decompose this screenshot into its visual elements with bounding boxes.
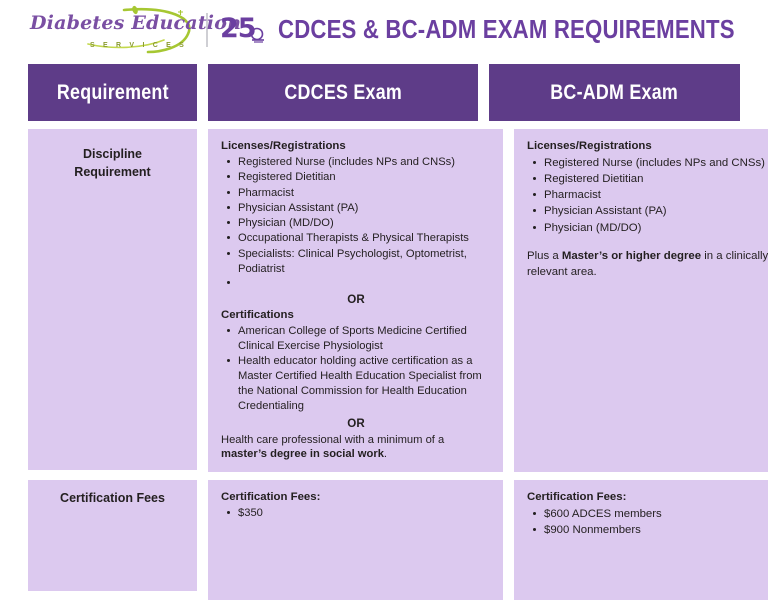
diabetes-education-services-logo: Diabetes Education S E R V I C E S [28, 4, 200, 56]
cdces-closing-prefix: Health care professional with a minimum … [221, 434, 444, 446]
list-item: Physician (MD/DO) [544, 221, 768, 237]
cdces-or-2: OR [221, 416, 491, 431]
logo-script-text: Diabetes Education [30, 12, 241, 34]
cell-cdces-fees: Certification Fees: $350 [208, 480, 503, 600]
column-header-cdces-exam-label: CDCES Exam [284, 81, 402, 105]
page-title: CDCES & BC-ADM EXAM REQUIREMENTS [278, 16, 735, 45]
cdces-or-1: OR [221, 292, 491, 307]
cell-cdces-discipline: Licenses/Registrations Registered Nurse … [208, 129, 503, 472]
cdces-closing-bold: master’s degree in social work [221, 448, 384, 460]
bcadm-closing-prefix: Plus a [527, 250, 562, 262]
row-label-line-1: Discipline [74, 145, 150, 163]
bcadm-closing-statement: Plus a Master’s or higher degree in a cl… [527, 249, 768, 280]
list-item: Pharmacist [544, 188, 768, 204]
bcadm-closing-bold: Master’s or higher degree [562, 250, 701, 262]
cdces-closing-statement: Health care professional with a minimum … [221, 433, 491, 463]
list-item: Occupational Therapists & Physical Thera… [238, 231, 491, 246]
cell-bcadm-discipline: Licenses/Registrations Registered Nurse … [514, 129, 768, 472]
list-item-empty [238, 277, 491, 289]
cdces-licenses-heading: Licenses/Registrations [221, 139, 491, 154]
bcadm-fees-list: $600 ADCES members $900 Nonmembers [527, 507, 768, 539]
list-item: American College of Sports Medicine Cert… [238, 324, 491, 354]
cdces-licenses-list: Registered Nurse (includes NPs and CNSs)… [221, 155, 491, 289]
cdces-certifications-heading: Certifications [221, 308, 491, 323]
list-item: Physician Assistant (PA) [544, 204, 768, 220]
column-header-cdces-exam: CDCES Exam [208, 64, 478, 121]
banner: Diabetes Education S E R V I C E S 25 CD… [0, 0, 768, 60]
infographic-page: Diabetes Education S E R V I C E S 25 CD… [0, 0, 768, 576]
list-item: $600 ADCES members [544, 507, 768, 523]
column-header-requirement-label: Requirement [57, 81, 169, 105]
row-gap [28, 121, 740, 129]
anniversary-loop-icon [250, 25, 266, 43]
cdces-fees-list: $350 [221, 506, 491, 521]
list-item: Health educator holding active certifica… [238, 354, 491, 413]
list-item: Registered Dietitian [238, 170, 491, 185]
list-item: Physician Assistant (PA) [238, 201, 491, 216]
column-header-bcadm-exam-label: BC-ADM Exam [551, 81, 679, 105]
cell-bcadm-fees: Certification Fees: $600 ADCES members $… [514, 480, 768, 600]
bcadm-licenses-heading: Licenses/Registrations [527, 139, 768, 155]
row-label-discipline-requirement: Discipline Requirement [28, 129, 197, 470]
column-header-requirement: Requirement [28, 64, 197, 121]
list-item: Registered Nurse (includes NPs and CNSs) [544, 156, 768, 172]
table-row: Certification Fees Certification Fees: $… [28, 480, 740, 600]
requirements-table: Requirement CDCES Exam BC-ADM Exam Disci… [28, 64, 740, 600]
cdces-closing-suffix: . [384, 448, 387, 460]
list-item: $350 [238, 506, 491, 521]
anniversary-badge: 25 [220, 11, 266, 49]
column-header-bcadm-exam: BC-ADM Exam [489, 64, 740, 121]
list-item: Pharmacist [238, 186, 491, 201]
list-item: $900 Nonmembers [544, 523, 768, 539]
cdces-certifications-list: American College of Sports Medicine Cert… [221, 324, 491, 413]
cdces-fees-heading: Certification Fees: [221, 490, 491, 505]
bcadm-fees-heading: Certification Fees: [527, 490, 768, 506]
bcadm-licenses-list: Registered Nurse (includes NPs and CNSs)… [527, 156, 768, 237]
list-item: Registered Nurse (includes NPs and CNSs) [238, 155, 491, 170]
list-item: Registered Dietitian [544, 172, 768, 188]
bcadm-spacer [527, 237, 768, 248]
table-header-row: Requirement CDCES Exam BC-ADM Exam [28, 64, 740, 121]
row-label-line-2: Requirement [74, 163, 150, 181]
logo-subtitle: S E R V I C E S [90, 42, 187, 49]
list-item: Physician (MD/DO) [238, 216, 491, 231]
table-row: Discipline Requirement Licenses/Registra… [28, 129, 740, 472]
row-label-text: Certification Fees [60, 489, 165, 507]
row-label-certification-fees: Certification Fees [28, 480, 197, 591]
list-item: Specialists: Clinical Psychologist, Opto… [238, 247, 491, 277]
row-gap [28, 472, 740, 480]
